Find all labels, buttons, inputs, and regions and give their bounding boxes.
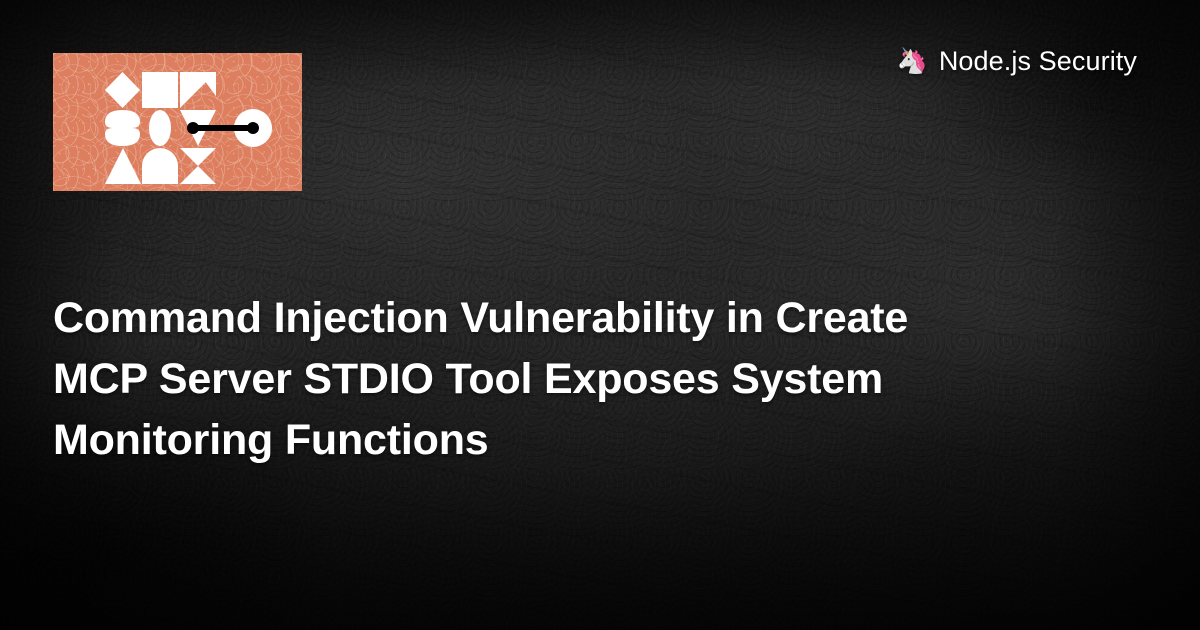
logo-shape-bowtie: [180, 148, 216, 184]
brand-name: Node.js Security: [939, 48, 1137, 75]
logo-connector-dot-left: [187, 122, 199, 134]
logo-artwork: [53, 53, 302, 191]
logo-shape-blob: [105, 110, 140, 146]
logo-connector-dot-right: [247, 122, 259, 134]
logo-shape-square: [142, 72, 178, 108]
logo-shape-triangle-up: [105, 148, 141, 184]
logo-shape-arch: [142, 148, 178, 184]
logo-shape-diamond: [105, 72, 140, 108]
social-share-card: 🦄 Node.js Security: [0, 0, 1200, 630]
logo-shape-ellipse: [149, 110, 171, 146]
brand-header: 🦄 Node.js Security: [897, 48, 1137, 75]
card-content: 🦄 Node.js Security: [0, 0, 1200, 630]
page-title: Command Injection Vulnerability in Creat…: [53, 288, 1053, 471]
project-logo: [53, 53, 302, 191]
unicorn-emoji: 🦄: [897, 49, 928, 74]
